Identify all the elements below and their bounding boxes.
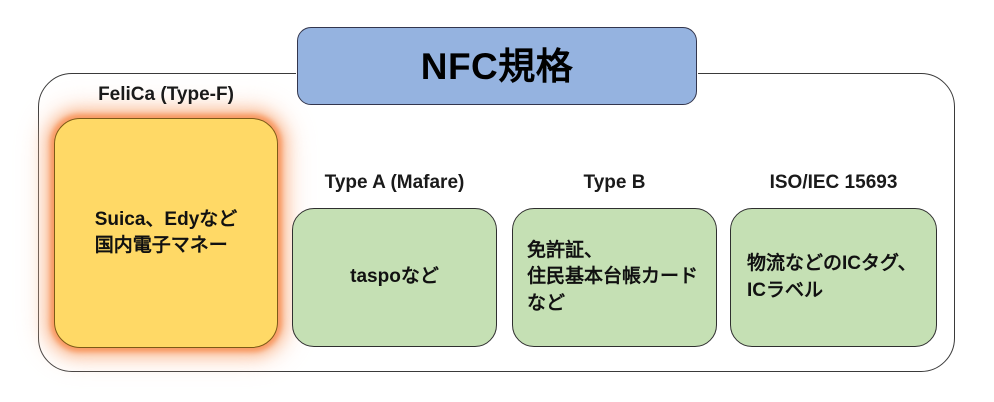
category-box-type-b: 免許証、 住民基本台帳カード など	[512, 208, 717, 347]
category-examples-type-b: 免許証、 住民基本台帳カード など	[527, 238, 698, 317]
category-label-felica: FeliCa (Type-F)	[54, 84, 278, 106]
category-label-type-a: Type A (Mafare)	[292, 172, 497, 194]
nfc-standards-diagram: NFC規格 FeliCa (Type-F) Suica、Edyなど 国内電子マネ…	[0, 0, 994, 402]
diagram-title-box: NFC規格	[297, 27, 697, 105]
category-label-type-b: Type B	[512, 172, 717, 194]
category-examples-felica: Suica、Edyなど 国内電子マネー	[95, 207, 238, 259]
category-label-iso-iec-15693: ISO/IEC 15693	[730, 172, 937, 194]
category-examples-type-a: taspoなど	[350, 264, 439, 290]
category-box-iso-iec-15693: 物流などのICタグ、 ICラベル	[730, 208, 937, 347]
diagram-title-label: NFC規格	[421, 48, 574, 85]
category-box-felica: Suica、Edyなど 国内電子マネー	[54, 118, 278, 348]
category-examples-iso-iec-15693: 物流などのICタグ、 ICラベル	[747, 251, 917, 303]
category-box-type-a: taspoなど	[292, 208, 497, 347]
